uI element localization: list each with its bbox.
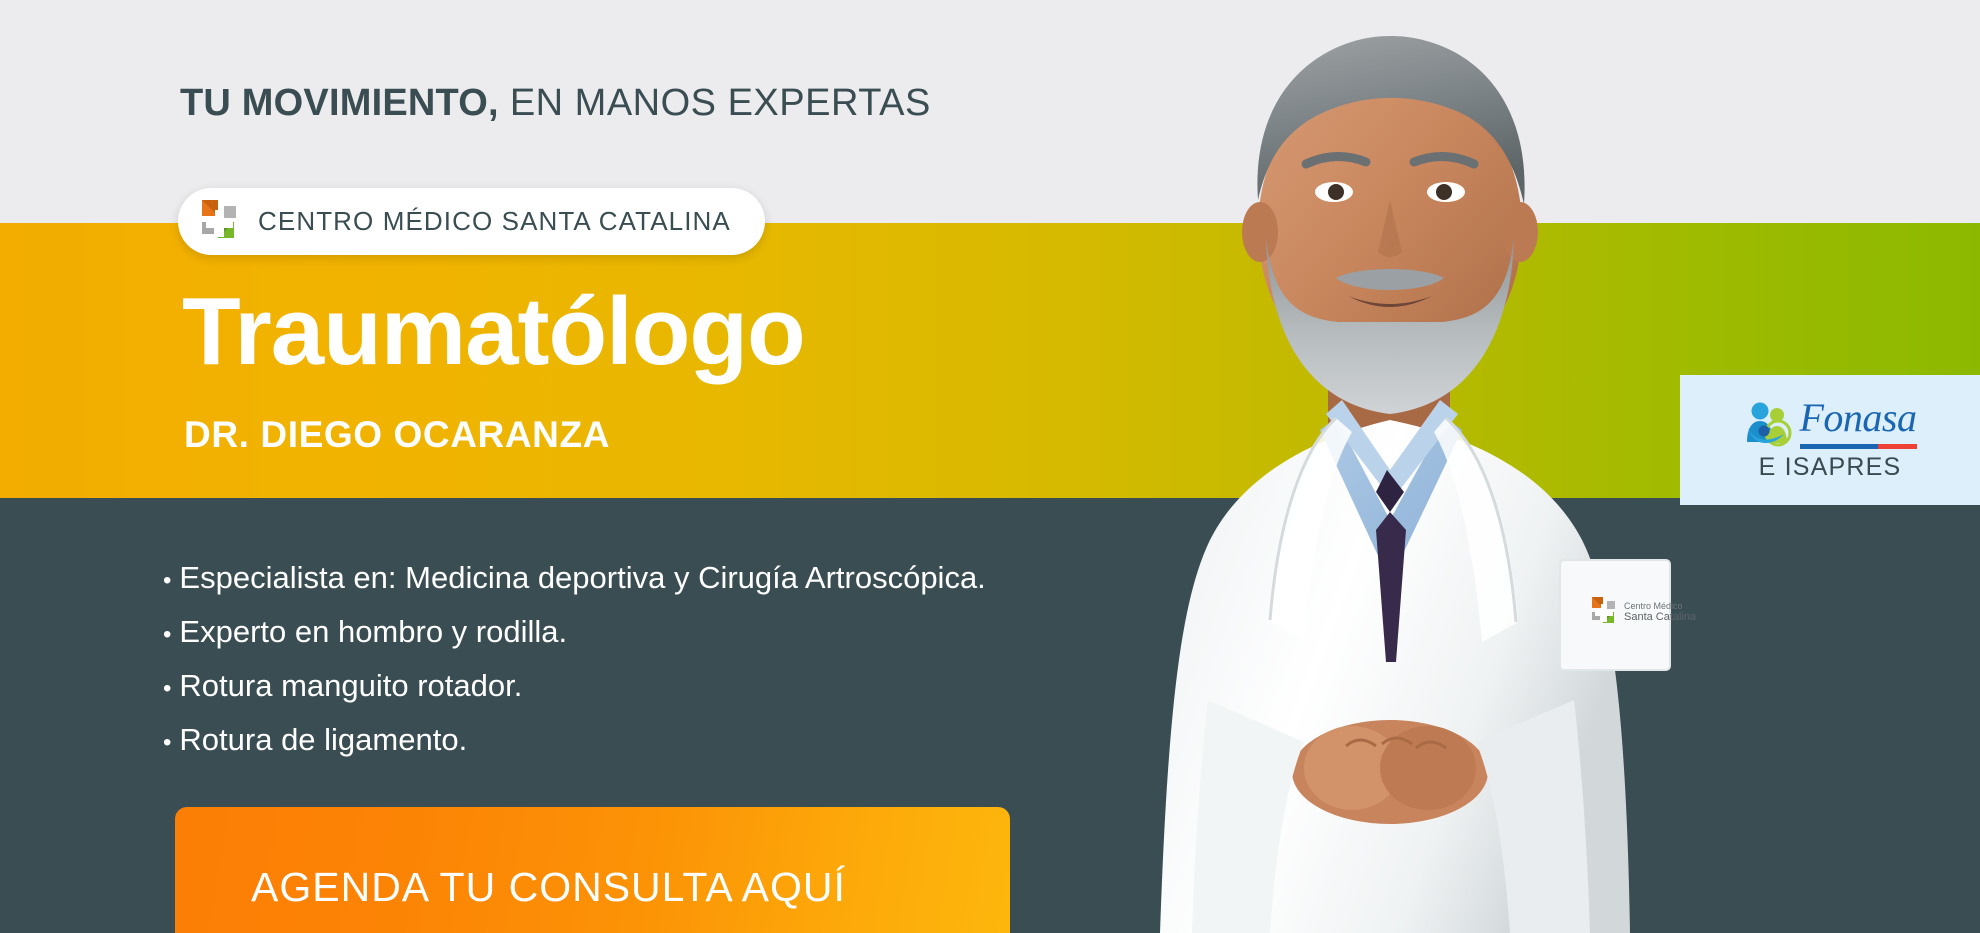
kicker-bold: TU MOVIMIENTO, — [180, 82, 499, 124]
fonasa-wordmark: Fonasa — [1800, 398, 1917, 442]
bullet-dot: • — [163, 609, 171, 660]
page-title: Traumatólogo — [182, 284, 805, 380]
list-item: • Experto en hombro y rodilla. — [163, 606, 986, 660]
kicker-rest: EN MANOS EXPERTAS — [499, 82, 931, 124]
clinic-badge[interactable]: CENTRO MÉDICO SANTA CATALINA — [178, 188, 765, 255]
specialty-list: • Especialista en: Medicina deportiva y … — [163, 552, 986, 768]
insurance-panel: Fonasa E ISAPRES — [1680, 375, 1980, 505]
clinic-cross-logo-icon — [202, 200, 240, 244]
list-item-label: Rotura manguito rotador. — [179, 660, 522, 711]
list-item-label: Experto en hombro y rodilla. — [179, 606, 567, 657]
bullet-dot: • — [163, 717, 171, 768]
fonasa-family-icon — [1744, 400, 1798, 448]
list-item: • Rotura de ligamento. — [163, 714, 986, 768]
schedule-consultation-button[interactable]: AGENDA TU CONSULTA AQUÍ — [175, 807, 1010, 933]
clinic-badge-label: CENTRO MÉDICO SANTA CATALINA — [258, 206, 731, 237]
list-item: • Especialista en: Medicina deportiva y … — [163, 552, 986, 606]
promo-banner: Centro Médico Santa Catalina TU MOVIMIEN… — [0, 0, 1980, 933]
bullet-dot: • — [163, 555, 171, 606]
doctor-name: DR. DIEGO OCARANZA — [184, 414, 610, 456]
insurance-subtitle: E ISAPRES — [1759, 453, 1902, 482]
list-item-label: Especialista en: Medicina deportiva y Ci… — [179, 552, 985, 603]
list-item-label: Rotura de ligamento. — [179, 714, 467, 765]
fonasa-logo: Fonasa — [1744, 398, 1917, 449]
bullet-dot: • — [163, 663, 171, 714]
list-item: • Rotura manguito rotador. — [163, 660, 986, 714]
page-kicker: TU MOVIMIENTO, EN MANOS EXPERTAS — [180, 82, 931, 125]
fonasa-underline — [1800, 444, 1917, 449]
